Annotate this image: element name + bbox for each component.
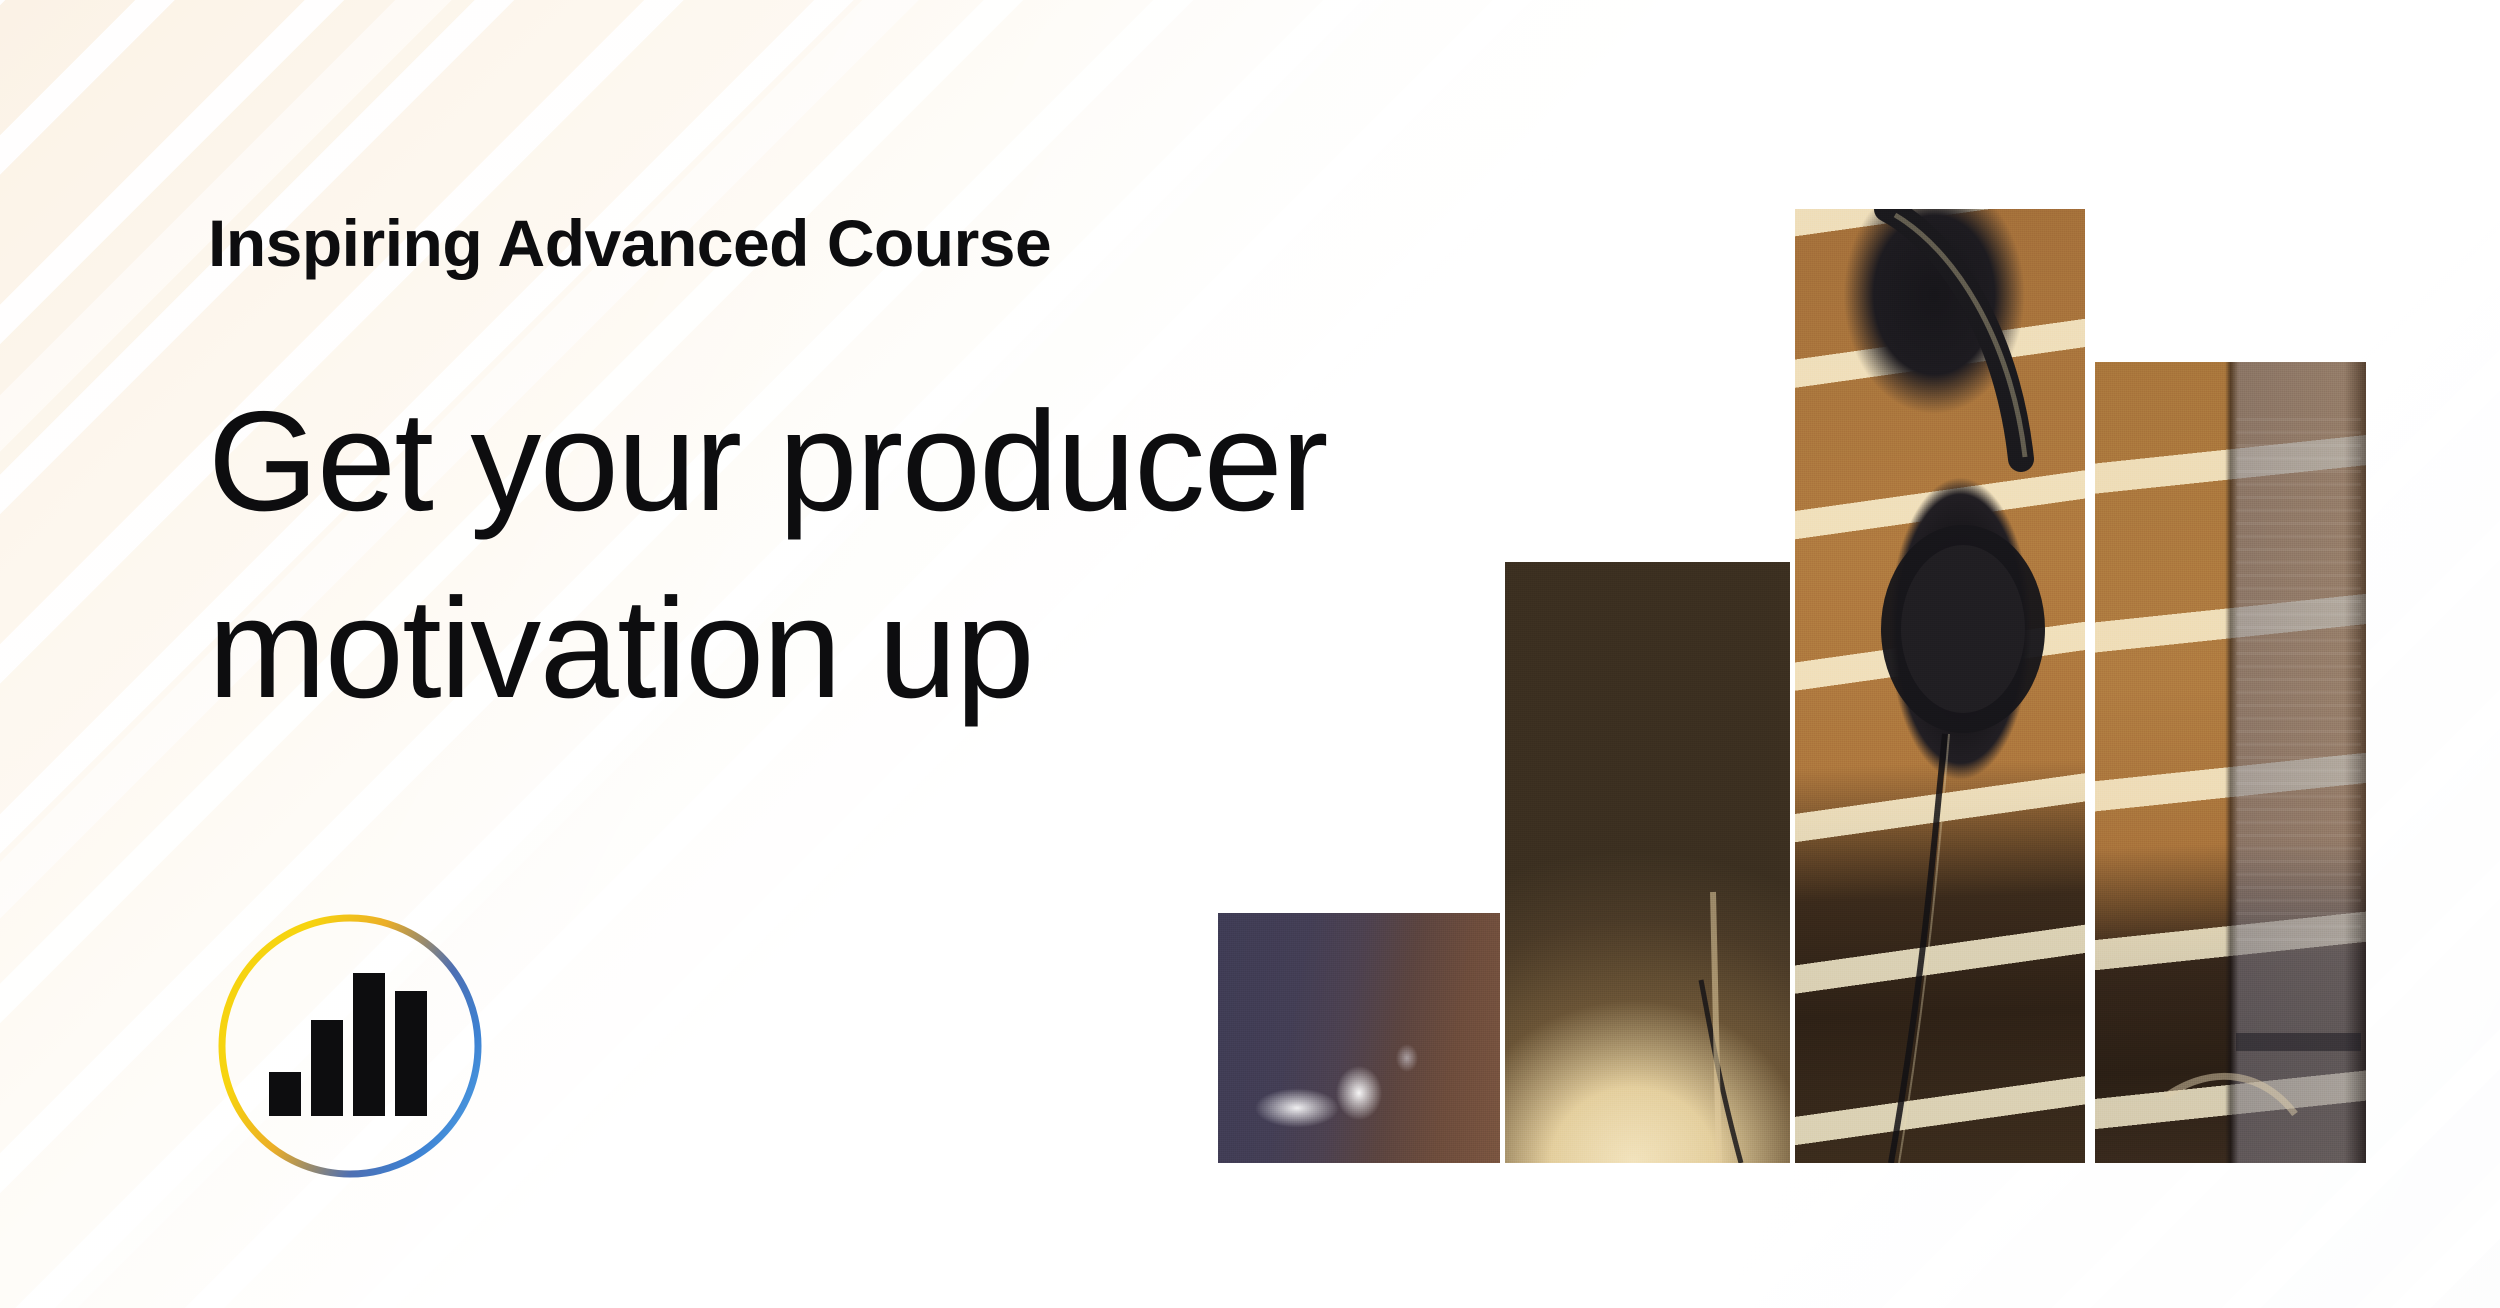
panel-window-dark (1218, 913, 1500, 1163)
eyebrow-label: Inspiring Advanced Course (208, 210, 1608, 276)
film-grain-overlay (1218, 913, 1500, 1163)
panel-headphones-main (1795, 209, 2085, 1163)
brand-logo[interactable] (214, 910, 486, 1182)
film-grain-overlay (1795, 209, 2085, 1163)
bar-chart-circle-icon (214, 910, 486, 1182)
banner-text-block: Inspiring Advanced Course Get your produ… (208, 210, 1608, 743)
banner-canvas: Inspiring Advanced Course Get your produ… (0, 0, 2500, 1308)
page-title: Get your producer motivation up (208, 368, 1528, 743)
film-grain-overlay (2095, 362, 2366, 1163)
panel-monitor-desk (2095, 362, 2366, 1163)
